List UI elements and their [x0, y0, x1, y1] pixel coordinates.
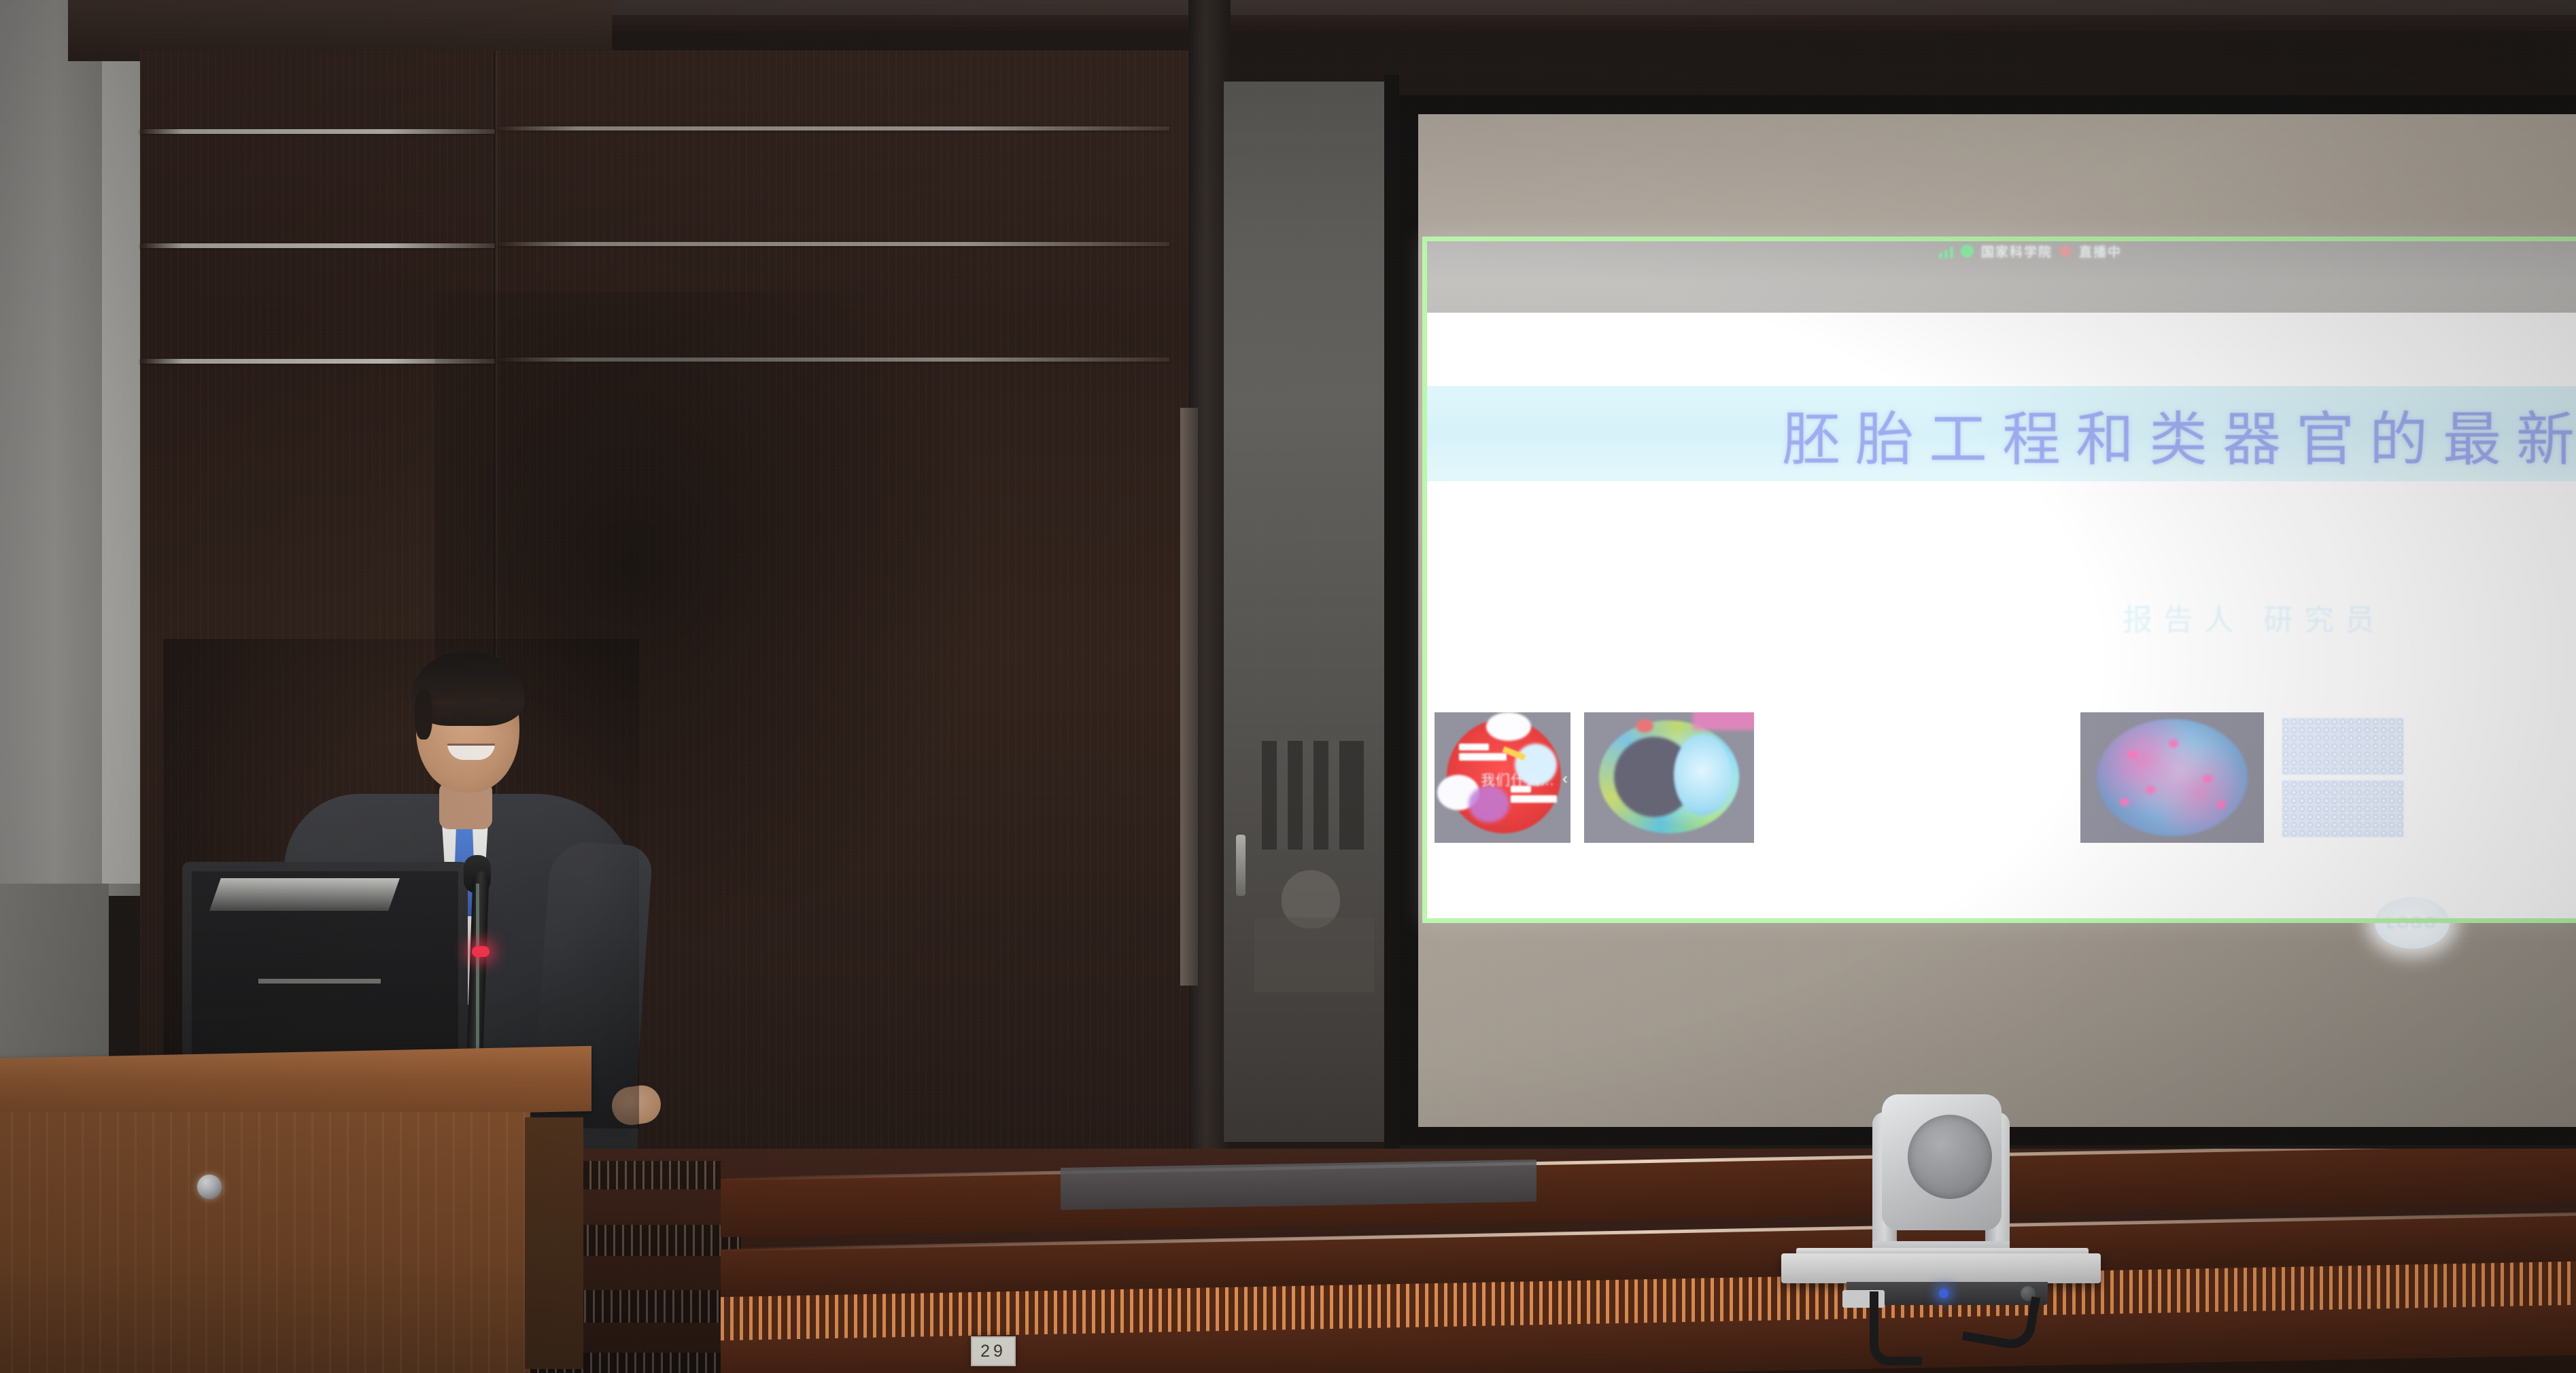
slide-white-band — [1422, 313, 2576, 386]
ceiling-highlight — [564, 0, 2576, 15]
divider-post — [1180, 408, 1198, 986]
camera-cable-secondary — [1870, 1291, 1922, 1366]
slide-top-band: 国家科学院 直播中 — [1422, 237, 2576, 313]
text-block-line — [1511, 795, 1557, 803]
organoid-body — [2097, 719, 2248, 836]
ptz-video-camera[interactable] — [1781, 1088, 2101, 1291]
thumbnail-red-circle-diagram: 我们什么... ‹ — [1435, 712, 1570, 843]
presenter-eyebrow-left — [435, 700, 456, 704]
pink-corner-glow — [1693, 712, 1754, 730]
desk-surface-grey — [1061, 1160, 1536, 1210]
microwell-grid-top — [2282, 718, 2404, 775]
thumbnail-microwell-array — [2282, 712, 2461, 843]
fluorescence-speckle — [2203, 775, 2212, 783]
text-block-line — [1459, 753, 1507, 761]
presenter-hair — [411, 653, 525, 726]
inner-cell-mass — [1674, 734, 1731, 816]
seated-person-body-silhouette — [1254, 918, 1374, 992]
signal-bars-icon — [1939, 245, 1953, 258]
slide-body: 报告人 研究员 我们什么... ‹ — [1422, 481, 2576, 923]
slide-logo-badge: LOGO — [2375, 897, 2450, 949]
wood-trim-strip — [496, 242, 1169, 246]
microphone-status-led — [472, 946, 490, 957]
slide-title-band: 胚胎工程和类器官的最新研究 — [1422, 386, 2576, 481]
red-fluorescence-spot — [1636, 719, 1653, 733]
slide-title: 胚胎工程和类器官的最新研究 — [1782, 392, 2576, 476]
red-dot-icon — [2060, 245, 2072, 257]
lectern-side-panel — [525, 1117, 583, 1369]
slide-logo-text: LOGO — [2375, 897, 2450, 949]
slide-subtitle: 报告人 研究员 — [2123, 595, 2386, 639]
glass-door-panel[interactable] — [1224, 82, 1392, 1142]
door-handle[interactable] — [1236, 835, 1246, 896]
status-bar-label-left: 国家科学院 — [1981, 242, 2053, 260]
slide-status-bar: 国家科学院 直播中 — [1939, 242, 2122, 260]
lectern-lock-knob[interactable] — [197, 1175, 222, 1199]
thumbnail-organoid-fluorescence — [2080, 712, 2264, 843]
thumbnail-blastocyst-fluorescence — [1584, 712, 1754, 843]
status-bar-label-right: 直播中 — [2079, 242, 2122, 260]
slide-thumbnail-row: 我们什么... ‹ — [1422, 712, 2576, 862]
chevron-left-icon: ‹ — [1562, 769, 1568, 788]
monitor-logo-strip — [258, 979, 381, 984]
fluorescence-speckle — [2169, 740, 2178, 748]
purple-bubble — [1469, 786, 1509, 822]
thumbnail-caption: 我们什么... — [1481, 769, 1555, 790]
wood-trim-strip — [496, 126, 1169, 131]
lecture-hall-photo: 国家科学院 直播中 胚胎工程和类器官的最新研究 报告人 研究员 — [0, 0, 2576, 1373]
glass-louvre-bars — [1262, 741, 1364, 850]
fluorescence-speckle — [2128, 750, 2137, 759]
monitor-reflection — [209, 878, 400, 911]
green-dot-icon — [1961, 245, 1974, 258]
wood-trim-strip — [140, 243, 495, 248]
presentation-slide: 国家科学院 直播中 胚胎工程和类器官的最新研究 报告人 研究员 — [1422, 237, 2576, 923]
fluorescence-speckle — [2146, 786, 2155, 794]
lectern-front-panel — [0, 1112, 530, 1373]
presenter-eye-left — [438, 711, 453, 716]
fluorescence-speckle — [2216, 801, 2226, 809]
glass-door-frame — [1384, 75, 1399, 1149]
wood-trim-strip — [140, 129, 495, 134]
microwell-grid-bottom — [2282, 780, 2404, 837]
fluorescence-speckle — [2120, 798, 2129, 806]
camera-power-led — [1939, 1289, 1948, 1298]
presenter-eye-right — [481, 710, 496, 714]
wooden-lectern — [0, 1052, 591, 1373]
camera-base-plate — [1781, 1253, 2101, 1283]
camera-lens — [1908, 1115, 1992, 1199]
white-bubble — [1486, 712, 1531, 741]
presenter-eyebrow-right — [479, 699, 499, 703]
seat-number-label: 29 — [971, 1336, 1016, 1366]
text-block-line — [1459, 744, 1489, 750]
